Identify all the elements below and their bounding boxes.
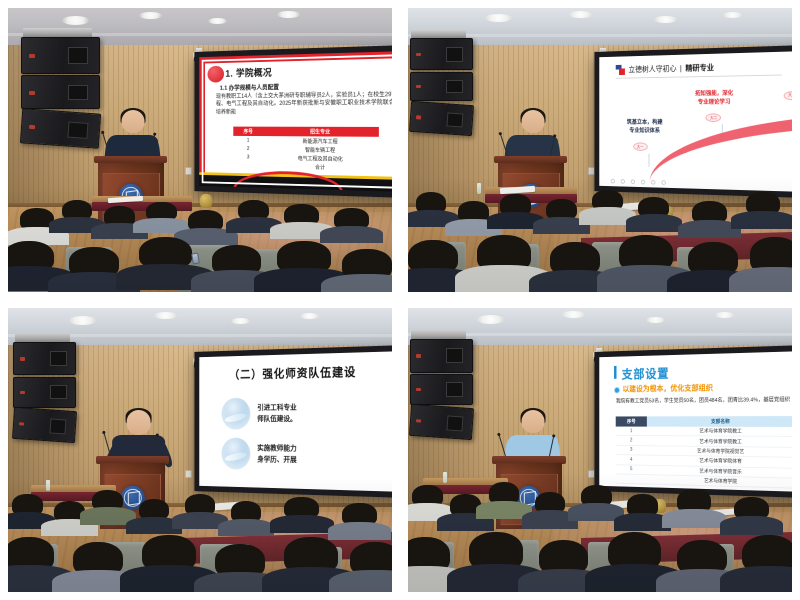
table-cell-index: 1	[233, 136, 264, 145]
slide-subtitle: 1.1 办学规模与人员配置	[220, 82, 279, 92]
line-array-speaker	[410, 374, 473, 405]
presenter-head	[521, 110, 544, 133]
presenter-head	[521, 410, 544, 433]
ceiling-light	[231, 318, 250, 324]
ceiling-light	[139, 12, 162, 19]
slide-surface: 支部设置 以建设为根本，优化支部组织 我院有教工党员53名，学生党员50名，团员…	[599, 351, 792, 492]
slide-college-overview: 1. 学院概况 1.1 办学规模与人员配置 现有教职工14人（含上交大茅洲研专职…	[199, 51, 392, 192]
photo-cell-top-right: 立德树人守初心 | 精研专业 拓知强能，深化 专业理论学习 大二 筑基立本，构建…	[400, 0, 800, 300]
photo-bottom-left: （二）强化师资队伍建设 引进工科专业 师队伍建设。 实施教师能力 身学历、开展	[8, 308, 392, 592]
ceiling-light	[477, 315, 504, 324]
flow-node-stage3: 大三	[784, 91, 792, 100]
line-array-speaker	[410, 72, 473, 102]
table-cell-major: 新能源汽车工程	[264, 136, 380, 146]
line-array-speaker-rig	[20, 22, 116, 158]
slide-header: 立德树人守初心 | 精研专业	[616, 62, 714, 75]
table-row: 合计	[233, 162, 379, 174]
bullet-icon	[614, 386, 620, 393]
table-cell-index: 3	[616, 445, 647, 455]
table-header-cell: 招生专业	[264, 127, 380, 137]
ceiling-light	[69, 316, 96, 325]
ceiling-light	[562, 311, 585, 318]
ceiling-light	[277, 11, 300, 18]
projection-screen: （二）强化师资队伍建设 引进工科专业 师队伍建设。 实施教师能力 身学历、开展	[195, 345, 392, 498]
table-row: 2 智能车辆工程	[233, 145, 379, 156]
table-cell-major: 智能车辆工程	[264, 145, 380, 155]
line-array-speaker	[13, 377, 76, 408]
table-cell-index: 4	[616, 455, 647, 465]
photo-collage: 1. 学院概况 1.1 办学规模与人员配置 现有教职工14人（含上交大茅洲研专职…	[0, 0, 800, 600]
flow-node-stage1: 大一	[633, 142, 647, 151]
slide-surface: 1. 学院概况 1.1 办学规模与人员配置 现有教职工14人（含上交大茅洲研专职…	[199, 51, 392, 192]
ceiling-light	[208, 18, 227, 24]
photo-bottom-right: 支部设置 以建设为根本，优化支部组织 我院有教工党员53名，学生党员50名，团员…	[408, 308, 792, 592]
line-array-speaker	[13, 342, 76, 376]
slide-header-left: 立德树人守初心	[629, 63, 677, 74]
flow-stem	[649, 153, 650, 166]
table-header-row: 序号 招生专业	[233, 127, 379, 137]
ceiling-light	[300, 313, 319, 319]
slide-header-right: 精研专业	[686, 62, 715, 73]
presenter-head	[121, 110, 144, 133]
photo-thumb-icon	[222, 437, 251, 469]
flow-node-stage2: 大二	[706, 113, 721, 122]
table-row: 1 新能源汽车工程	[233, 136, 379, 146]
photo-thumb-icon	[222, 398, 251, 430]
ceiling-light	[715, 312, 734, 318]
lecture-hall-scene: 支部设置 以建设为根本，优化支部组织 我院有教工党员53名，学生党员50名，团员…	[408, 308, 792, 592]
wall-outlet	[185, 167, 192, 175]
projection-screen: 1. 学院概况 1.1 办学规模与人员配置 现有教职工14人（含上交大茅洲研专职…	[195, 45, 392, 198]
line-array-speaker	[12, 407, 77, 444]
line-array-speaker-rig	[408, 25, 485, 144]
table-cell-index: 2	[616, 436, 647, 446]
speaker-mount-bar	[411, 30, 466, 38]
photo-cell-top-left: 1. 学院概况 1.1 办学规模与人员配置 现有教职工14人（含上交大茅洲研专职…	[0, 0, 400, 300]
title-accent-bar	[614, 366, 616, 379]
speaker-mount-bar	[23, 28, 92, 38]
table-header-cell: 序号	[616, 416, 647, 426]
audience-area	[408, 473, 792, 592]
ceiling-light	[723, 12, 742, 18]
speaker-mount-bar	[15, 333, 70, 342]
table-cell-index: 2	[233, 145, 264, 154]
audience-area	[8, 478, 392, 592]
line-array-speaker	[409, 100, 474, 135]
line-array-speaker-rig	[408, 325, 485, 450]
flow-label-stage2: 拓知强能，深化 专业理论学习	[684, 90, 745, 108]
line-array-speaker	[21, 37, 100, 74]
line-array-speaker	[20, 108, 101, 149]
audience-area	[408, 178, 792, 292]
slide-title: 支部设置	[622, 363, 670, 382]
slide-item: 实施教师能力 身学历、开展	[222, 437, 297, 470]
flow-label-stage1: 筑基立本，构建 专业知识体系	[614, 119, 676, 136]
line-array-speaker-rig	[12, 328, 89, 453]
line-array-speaker	[410, 38, 473, 70]
projection-screen: 立德树人守初心 | 精研专业 拓知强能，深化 专业理论学习 大二 筑基立本，构建…	[595, 45, 792, 198]
line-array-speaker	[410, 339, 473, 373]
photo-cell-bottom-right: 支部设置 以建设为根本，优化支部组织 我院有教工党员53名，学生党员50名，团员…	[400, 300, 800, 600]
lecture-hall-scene: 立德树人守初心 | 精研专业 拓知强能，深化 专业理论学习 大二 筑基立本，构建…	[408, 8, 792, 292]
line-array-speaker	[408, 404, 473, 441]
slide-subtitle: 以建设为根本，优化支部组织	[623, 382, 713, 394]
table-row: 3 电气工程及其自动化	[233, 153, 379, 164]
slide-header-divider: |	[680, 64, 682, 73]
slide-surface: 立德树人守初心 | 精研专业 拓知强能，深化 专业理论学习 大二 筑基立本，构建…	[599, 51, 792, 192]
lecture-hall-scene: （二）强化师资队伍建设 引进工科专业 师队伍建设。 实施教师能力 身学历、开展	[8, 308, 392, 592]
photo-cell-bottom-left: （二）强化师资队伍建设 引进工科专业 师队伍建设。 实施教师能力 身学历、开展	[0, 300, 400, 600]
lecture-hall-scene: 1. 学院概况 1.1 办学规模与人员配置 现有教职工14人（含上交大茅洲研专职…	[8, 8, 392, 292]
table-header-cell: 支部名称	[647, 416, 792, 427]
slide-item: 引进工科专业 师队伍建设。	[222, 397, 297, 429]
presenter-head	[126, 410, 151, 435]
photo-top-left: 1. 学院概况 1.1 办学规模与人员配置 现有教职工14人（含上交大茅洲研专职…	[8, 8, 392, 292]
slide-item-text: 引进工科专业 师队伍建设。	[257, 402, 296, 425]
slide-majors-table: 序号 招生专业 1 新能源汽车工程 2 智能车辆工程	[233, 127, 379, 174]
slide-body-text: 现有教职工14人（含上交大茅洲研专职辅导员2人，实验员1人；在校生297程、电气…	[216, 91, 392, 117]
ceiling-light	[654, 16, 677, 23]
ceiling-light	[485, 14, 512, 22]
wall-outlet	[185, 470, 192, 478]
table-header-cell: 序号	[233, 127, 264, 136]
slide-teacher-team: （二）强化师资队伍建设 引进工科专业 师队伍建设。 实施教师能力 身学历、开展	[199, 351, 392, 492]
slide-decor-dot-icon	[208, 66, 225, 83]
slide-professional-study: 立德树人守初心 | 精研专业 拓知强能，深化 专业理论学习 大二 筑基立本，构建…	[599, 51, 792, 192]
slide-body-text: 我院有教工党员53名，学生党员50名，团员484名，团青比39.4%，基层党组织	[616, 396, 792, 406]
table-header-row: 序号 支部名称	[616, 416, 792, 427]
slide-title: （二）强化师资队伍建设	[229, 364, 356, 383]
slide-item-text: 实施教师能力 身学历、开展	[257, 442, 296, 465]
slide-header-rule	[616, 74, 782, 78]
table-cell-total: 合计	[264, 162, 380, 173]
slide-party-branch: 支部设置 以建设为根本，优化支部组织 我院有教工党员53名，学生党员50名，团员…	[599, 351, 792, 492]
table-cell-index: 3	[233, 153, 264, 162]
speaker-mount-bar	[411, 330, 466, 339]
line-array-speaker	[21, 75, 100, 109]
photo-top-right: 立德树人守初心 | 精研专业 拓知强能，深化 专业理论学习 大二 筑基立本，构建…	[408, 8, 792, 292]
slide-surface: （二）强化师资队伍建设 引进工科专业 师队伍建设。 实施教师能力 身学历、开展	[199, 351, 392, 492]
table-cell-index	[233, 162, 264, 171]
ceiling-light	[646, 317, 665, 323]
slide-title: 1. 学院概况	[226, 64, 273, 79]
ceiling-light	[569, 11, 592, 18]
audience-area	[8, 190, 392, 292]
table-cell-index: 1	[616, 426, 647, 435]
brand-mark-icon	[616, 64, 625, 74]
ceiling-light	[154, 312, 177, 319]
table-cell-major: 电气工程及其自动化	[264, 154, 380, 165]
